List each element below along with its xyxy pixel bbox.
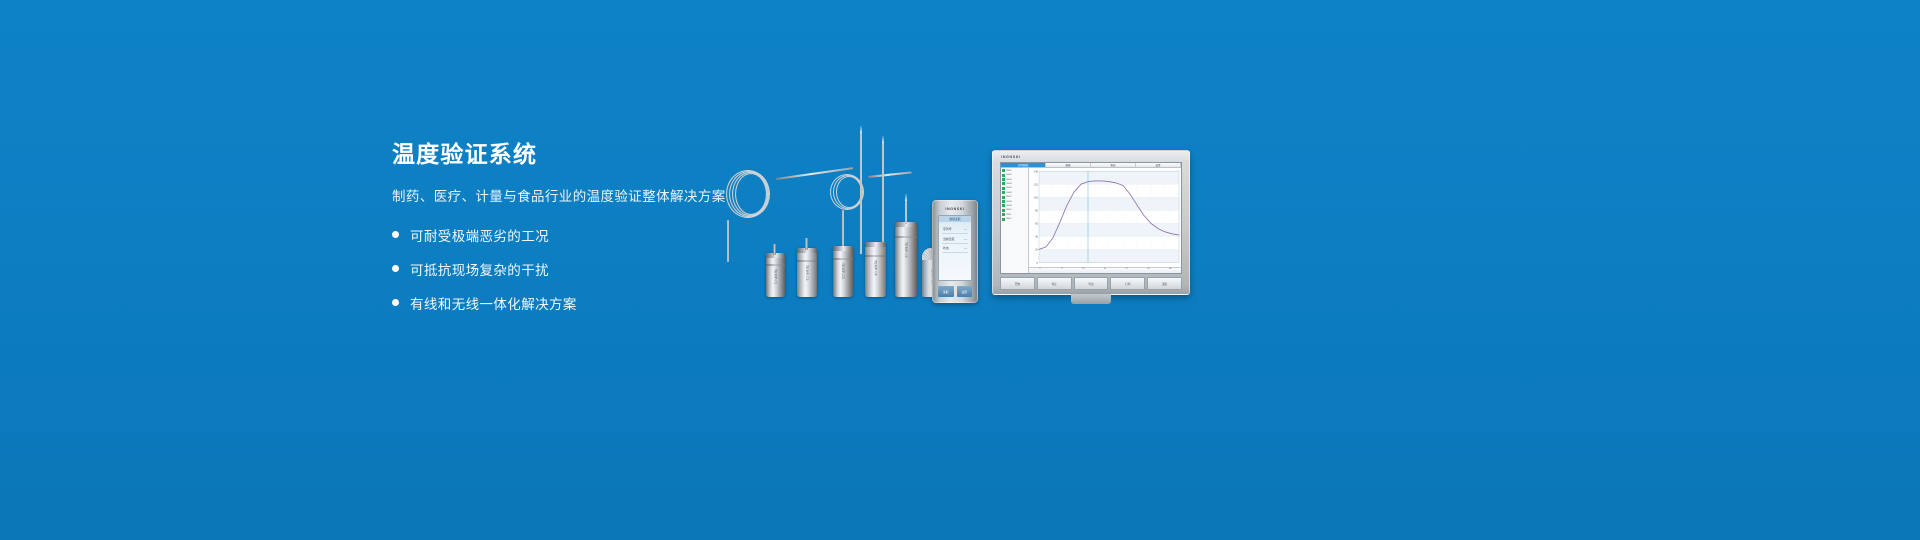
coiled-probe-icon [828,172,868,212]
logger-label: TEMP-02 [805,265,809,281]
channel-status-icon [1002,204,1005,207]
channel-label: CH07 [1006,196,1012,198]
reader-screen: 数据读取 序列号 — 当前温度 — 状态 — [938,215,972,281]
monitor-body: CH01 CH02 CH03 CH04 CH05 CH06 CH07 CH08 … [1001,168,1181,273]
list-item[interactable]: CH02 [1002,173,1027,177]
reader-button-bar: 读取 设置 [938,286,972,297]
list-item[interactable]: CH09 [1002,204,1027,208]
monitor-screen: 实时曲线 数据 报表 设置 CH01 CH02 CH03 CH04 CH05 C… [1000,162,1182,274]
x-axis-tick-label: 83 [1138,268,1160,273]
industrial-monitor[interactable]: INGNSKI 实时曲线 数据 报表 设置 CH01 CH02 CH03 CH0… [992,150,1190,295]
list-item-label: 可耐受极端恶劣的工况 [410,225,549,245]
reader-screen-title: 数据读取 [939,216,971,222]
logger-band [865,255,886,257]
list-item-label: 可抵抗现场复杂的干扰 [410,259,549,279]
list-item[interactable]: CH04 [1002,182,1027,186]
channel-status-icon [1002,213,1005,216]
chart-x-axis: 01733506783100 [1029,267,1181,273]
monitor-stand [1071,294,1111,304]
monitor-exit-button[interactable]: 退出 [1147,277,1182,290]
data-logger: TEMP-04 [865,242,886,297]
x-axis-tick-label: 100 [1159,268,1181,273]
reader-data-row: 序列号 — [942,225,968,234]
bullet-dot-icon [392,299,399,306]
temperature-chart[interactable]: 020406080100120140 01733506783100 [1029,168,1181,273]
tab-data[interactable]: 数据 [1046,163,1091,167]
tab-realtime-curve[interactable]: 实时曲线 [1001,163,1046,167]
monitor-stop-button[interactable]: 停止 [1037,277,1072,290]
list-item[interactable]: CH11 [1002,213,1027,217]
x-axis-tick-label: 50 [1094,268,1116,273]
svg-text:40: 40 [1035,235,1038,239]
logger-cap [833,246,853,251]
channel-status-icon [1002,218,1005,221]
monitor-brand-label: INGNSKI [1001,155,1021,159]
svg-text:100: 100 [1034,195,1039,199]
channel-status-icon [1002,196,1005,199]
list-item[interactable]: CH03 [1002,178,1027,182]
needle-probe-icon [860,132,862,254]
data-logger: TEMP-02 [797,248,817,297]
reader-row-value: — [964,246,967,250]
reader-settings-button[interactable]: 设置 [957,286,973,297]
list-item[interactable]: CH12 [1002,217,1027,221]
logger-cap [865,242,886,247]
channel-label: CH01 [1006,170,1012,172]
channel-label: CH04 [1006,183,1012,185]
list-item[interactable]: CH08 [1002,200,1027,204]
reader-data-row: 当前温度 — [942,234,968,243]
handheld-reader-device[interactable]: INGNSKI 数据读取 序列号 — 当前温度 — 状态 — 读取 设置 [932,200,978,303]
logger-label: TEMP-01 [774,269,778,285]
list-item[interactable]: CH05 [1002,187,1027,191]
x-axis-tick-label: 33 [1072,268,1094,273]
logger-label: TEMP-05 [904,242,908,258]
coiled-probe-icon [722,168,776,222]
channel-label: CH11 [1006,214,1011,216]
data-logger: TEMP-01 [766,253,785,297]
logger-label: TEMP-03 [841,263,845,279]
channel-label: CH02 [1006,174,1012,176]
logger-band [895,236,917,238]
logger-band [766,264,785,266]
channel-status-icon [1002,178,1005,181]
channel-label: CH10 [1006,209,1012,211]
channel-status-icon [1002,187,1005,190]
bullet-dot-icon [392,231,399,238]
data-logger: TEMP-05 [895,222,917,297]
channel-status-icon [1002,174,1005,177]
probe-stem [727,220,729,262]
monitor-button-bar: 开始 停止 导出 打印 退出 [1000,277,1182,290]
monitor-export-button[interactable]: 导出 [1074,277,1109,290]
list-item[interactable]: CH10 [1002,209,1027,213]
reader-row-label: 序列号 [943,227,952,231]
channel-status-icon [1002,209,1005,212]
product-group-image: TEMP-01 TEMP-02 TEMP-03 TEMP-04 TEMP-05 [700,120,1220,320]
x-axis-tick-label: 17 [1051,268,1073,273]
svg-text:140: 140 [1034,169,1039,173]
reader-brand-label: INGNSKI [933,207,977,211]
list-item-label: 有线和无线一体化解决方案 [410,293,577,313]
logger-band [833,258,853,260]
logger-neck [805,238,808,250]
svg-text:60: 60 [1035,222,1038,226]
tab-settings[interactable]: 设置 [1136,163,1181,167]
needle-probe-icon [882,142,884,254]
channel-label: CH05 [1006,187,1012,189]
svg-text:80: 80 [1035,208,1038,212]
reader-row-value: — [964,237,967,241]
list-item[interactable]: CH06 [1002,191,1027,195]
reader-row-label: 状态 [943,246,949,250]
svg-text:20: 20 [1035,248,1038,252]
logger-antenna [905,200,907,224]
monitor-print-button[interactable]: 打印 [1110,277,1145,290]
channel-label: CH09 [1006,205,1012,207]
channel-status-icon [1002,182,1005,185]
list-item[interactable]: CH01 [1002,169,1027,173]
logger-band [797,260,817,262]
monitor-start-button[interactable]: 开始 [1000,277,1035,290]
svg-text:120: 120 [1034,182,1039,186]
chart-canvas: 020406080100120140 [1029,168,1181,273]
channel-label: CH06 [1006,192,1012,194]
promo-banner: 温度验证系统 制药、医疗、计量与食品行业的温度验证整体解决方案 可耐受极端恶劣的… [0,0,1920,540]
channel-list: CH01 CH02 CH03 CH04 CH05 CH06 CH07 CH08 … [1001,168,1029,273]
x-axis-tick-label: 67 [1116,268,1138,273]
channel-status-icon [1002,200,1005,203]
list-item[interactable]: CH07 [1002,195,1027,199]
reader-row-label: 当前温度 [943,237,955,241]
data-logger: TEMP-03 [833,246,853,297]
bullet-dot-icon [392,265,399,272]
channel-label: CH08 [1006,201,1012,203]
reader-read-button[interactable]: 读取 [938,286,954,297]
x-axis-tick-label: 0 [1029,268,1051,273]
reader-data-row: 状态 — [942,244,968,253]
channel-status-icon [1002,169,1005,172]
reader-row-value: — [964,227,967,231]
channel-label: CH12 [1006,218,1012,220]
logger-label: TEMP-04 [874,260,878,276]
channel-status-icon [1002,191,1005,194]
channel-label: CH03 [1006,179,1012,181]
tab-report[interactable]: 报表 [1091,163,1136,167]
logger-neck [773,244,776,255]
probe-lead-wire [868,171,912,178]
